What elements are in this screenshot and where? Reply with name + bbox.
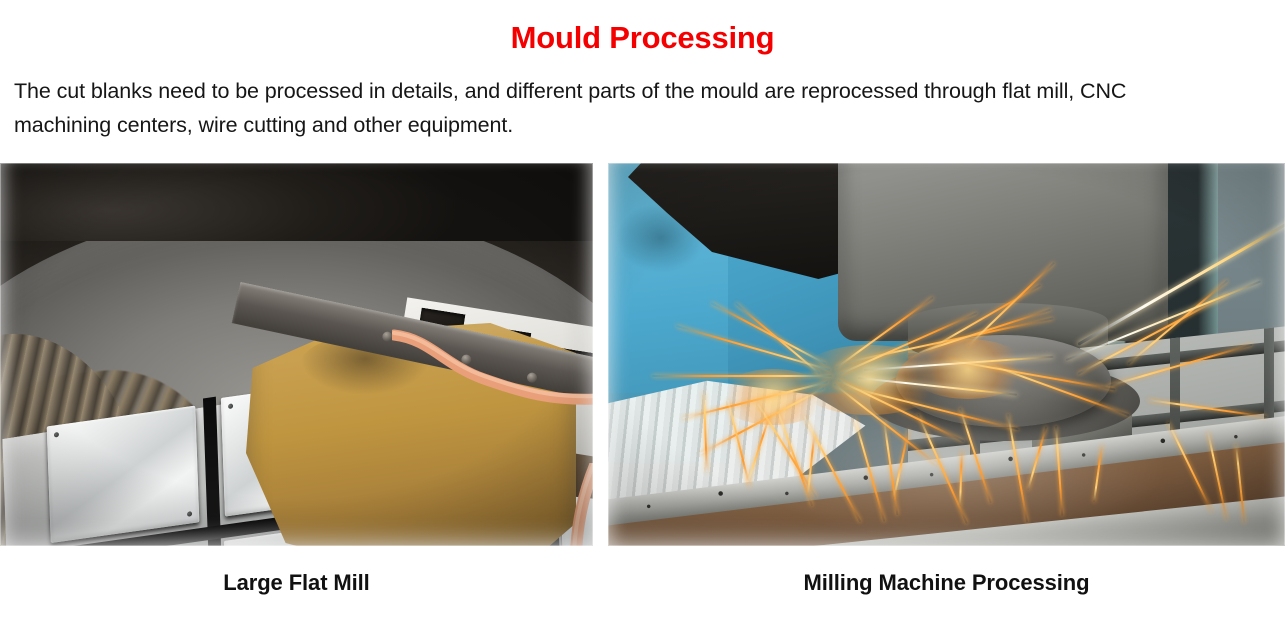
figure-large-flat-mill[interactable] [0, 163, 593, 546]
caption-row: Large Flat Mill Milling Machine Processi… [0, 546, 1285, 619]
photo-milling-machine [608, 163, 1285, 546]
photo-large-flat-mill [0, 163, 593, 546]
photo-vignette [608, 163, 1285, 546]
page-title: Mould Processing [0, 18, 1285, 58]
intro-paragraph: The cut blanks need to be processed in d… [14, 74, 1224, 142]
caption-large-flat-mill: Large Flat Mill [0, 546, 593, 619]
figure-row [0, 163, 1285, 546]
mould-processing-section: Mould Processing The cut blanks need to … [0, 0, 1285, 619]
photo-vignette [0, 163, 593, 546]
caption-milling-machine-processing: Milling Machine Processing [608, 546, 1285, 619]
figure-milling-machine-processing[interactable] [608, 163, 1285, 546]
